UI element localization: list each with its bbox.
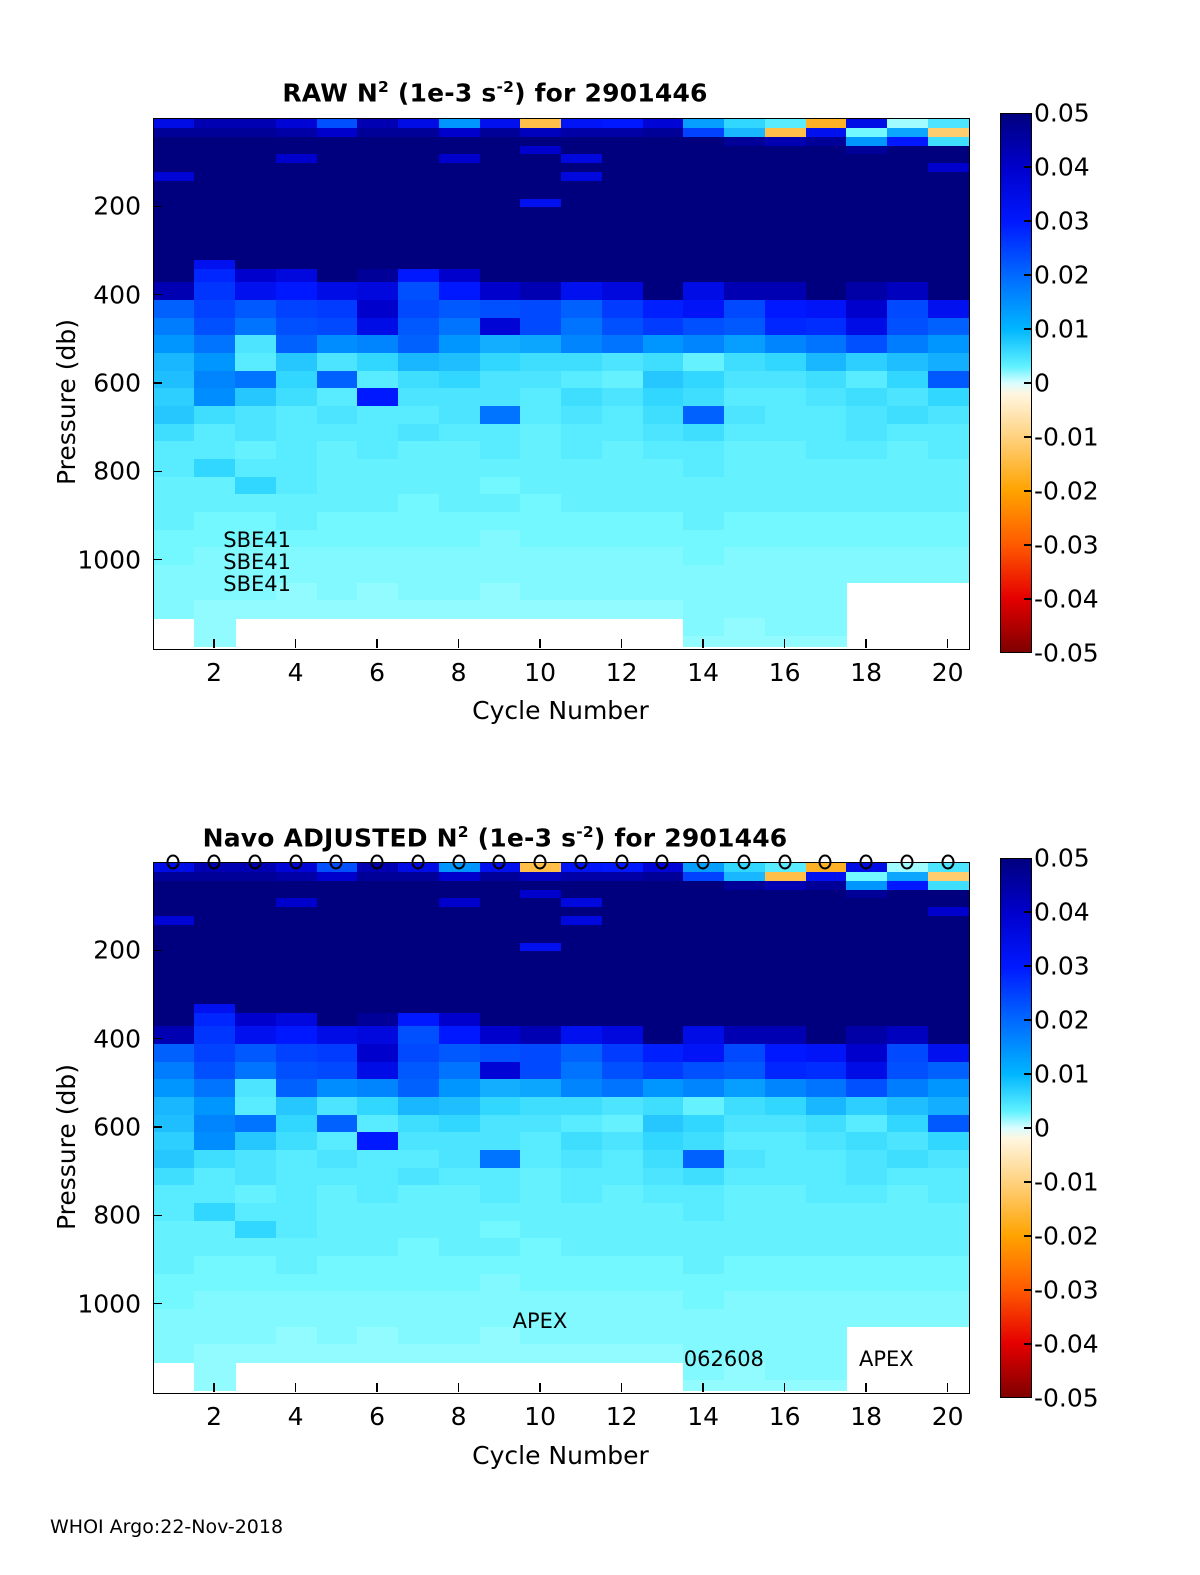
heatmap-cell [643,335,684,353]
heatmap-cell [276,600,317,618]
y-tick-mark [153,1126,162,1128]
colorbar-tick-label: -0.02 [1034,477,1099,506]
heatmap-cell [276,1221,317,1239]
heatmap-cell [235,1274,276,1292]
colorbar-tick-mark [1024,490,1032,492]
cycle-marker-icon [411,855,424,870]
heatmap-cell [806,300,847,318]
heatmap-cell [194,1150,235,1168]
heatmap-cell [765,1097,806,1115]
heatmap-cell [398,353,439,371]
heatmap-cell [602,1079,643,1097]
heatmap-cell [235,335,276,353]
heatmap-cell [561,1238,602,1256]
title-superscript: 2 [378,78,389,96]
heatmap-cell [317,1344,358,1362]
heatmap-cell [887,512,928,530]
heatmap-cell [398,424,439,442]
y-tick-mark [153,559,162,561]
heatmap-cell [928,269,969,283]
heatmap-cell [235,477,276,495]
heatmap-cell [643,406,684,424]
heatmap-cell [439,1256,480,1274]
footer-credit: WHOI Argo:22-Nov-2018 [50,1516,283,1538]
heatmap-cell [480,353,521,371]
heatmap-cell [602,565,643,583]
heatmap-cell [398,1168,439,1186]
heatmap-cell [765,1185,806,1203]
heatmap-cell [683,530,724,548]
heatmap-cell [806,547,847,565]
heatmap-cell [683,300,724,318]
heatmap-cell [561,406,602,424]
heatmap-cell [357,300,398,318]
heatmap-cell [806,441,847,459]
heatmap-cell [602,424,643,442]
x-tick-label: 16 [769,1402,801,1431]
colorbar-tick-mark [1024,1181,1032,1183]
heatmap-cell [480,1044,521,1062]
heatmap-cell [683,1203,724,1221]
heatmap-cell [398,318,439,336]
heatmap-cell [398,1256,439,1274]
heatmap-cell [480,1079,521,1097]
heatmap-cell [683,1238,724,1256]
heatmap-cell [887,1013,928,1027]
heatmap-cell [357,353,398,371]
heatmap-cell [724,512,765,530]
heatmap-cell [317,1026,358,1044]
heatmap-cell [357,1150,398,1168]
heatmap-cell [235,600,276,618]
heatmap-cell [643,371,684,389]
heatmap-cell [602,1185,643,1203]
heatmap-cell [602,441,643,459]
title-text: ) for 2901446 [514,78,708,107]
heatmap-cell [439,477,480,495]
heatmap-cell [480,1150,521,1168]
heatmap-cell [561,1256,602,1274]
heatmap-cell [683,565,724,583]
heatmap-cell [276,424,317,442]
heatmap-cell [276,1291,317,1309]
heatmap-cell [724,600,765,618]
heatmap-cell [317,530,358,548]
heatmap-cell [683,371,724,389]
heatmap-cell [317,1097,358,1115]
heatmap-cell [439,1309,480,1327]
colorbar-tick-mark [1024,166,1032,168]
heatmap-cell [439,1044,480,1062]
y-tick-label: 400 [13,1024,141,1053]
heatmap-cell [683,1274,724,1292]
heatmap-cell [520,1221,561,1239]
heatmap-cell [602,477,643,495]
heatmap-cell [194,1097,235,1115]
heatmap-cell [154,1327,195,1345]
heatmap-cell [928,353,969,371]
heatmap-cell [357,1168,398,1186]
heatmap-cell [724,547,765,565]
heatmap-cell [480,441,521,459]
y-tick-label: 1000 [13,1289,141,1318]
heatmap-cell [357,1256,398,1274]
colorbar-tick-label: -0.04 [1034,585,1099,614]
heatmap-cell [846,1115,887,1133]
heatmap-cell [480,1168,521,1186]
heatmap-cell [806,1132,847,1150]
heatmap-cell [765,1380,806,1392]
heatmap-cell [765,1168,806,1186]
heatmap-cell [398,1344,439,1362]
heatmap-cell [480,530,521,548]
colorbar-tick-mark [1024,220,1032,222]
heatmap-cell [154,424,195,442]
heatmap-cell [194,618,235,636]
heatmap-cell [643,565,684,583]
heatmap-cell [561,1150,602,1168]
heatmap-cell [683,1044,724,1062]
heatmap-cell [480,282,521,300]
heatmap-cell [317,1291,358,1309]
heatmap-cell [806,1168,847,1186]
heatmap-cell [765,1362,806,1380]
heatmap-axes-adjusted[interactable]: APEX062608APEX [153,862,970,1394]
heatmap-cell [928,530,969,548]
heatmap-cell [806,583,847,601]
heatmap-cell [480,583,521,601]
colorbar-tick-label: 0.05 [1034,99,1090,128]
heatmap-cell [317,565,358,583]
heatmap-cell [194,371,235,389]
heatmap-cell [846,1238,887,1256]
heatmap-cell [846,1309,887,1327]
heatmap-cell [480,424,521,442]
cycle-marker-icon [248,855,261,870]
x-tick-mark [458,639,460,648]
heatmap-cell [317,1309,358,1327]
heatmap-cell [439,300,480,318]
heatmap-cell [643,477,684,495]
heatmap-cell [154,512,195,530]
heatmap-cell [357,1344,398,1362]
heatmap-cell [806,1380,847,1392]
heatmap-cell [846,335,887,353]
heatmap-cell [398,1079,439,1097]
heatmap-cell [480,1344,521,1362]
heatmap-cell [317,300,358,318]
heatmap-cell [398,1150,439,1168]
heatmap-cell [520,1168,561,1186]
colorbar-tick-mark [1024,328,1032,330]
heatmap-cell [765,300,806,318]
heatmap-cell [724,335,765,353]
heatmap-cell [643,1327,684,1345]
heatmap-cell [724,269,765,283]
heatmap-cell [520,477,561,495]
heatmap-cell [724,1013,765,1027]
heatmap-cell [154,1185,195,1203]
heatmap-cell [235,1238,276,1256]
heatmap-cell [806,459,847,477]
heatmap-cell [561,1044,602,1062]
heatmap-cell [398,459,439,477]
heatmap-cell [439,1150,480,1168]
heatmap-cell [683,388,724,406]
heatmap-cell [398,1044,439,1062]
y-axis-label-adjusted: Pressure (db) [52,1064,81,1230]
heatmap-cell [154,282,195,300]
heatmap-cell [439,1238,480,1256]
heatmap-cell [480,269,521,283]
heatmap-cell [765,1274,806,1292]
heatmap-cell [928,335,969,353]
heatmap-cell [846,1132,887,1150]
heatmap-cell [357,1327,398,1345]
heatmap-cell [154,269,195,283]
y-tick-label: 200 [13,936,141,965]
heatmap-cell [724,1274,765,1292]
heatmap-cell [154,371,195,389]
heatmap-cell [887,1203,928,1221]
heatmap-cell [357,530,398,548]
heatmap-cell [887,282,928,300]
heatmap-cell [317,282,358,300]
heatmap-cell [683,1380,724,1392]
colorbar-tick-label: 0.03 [1034,207,1090,236]
heatmap-cell [398,1327,439,1345]
heatmap-cell [235,1185,276,1203]
heatmap-cell [398,1185,439,1203]
heatmap-cell [806,388,847,406]
heatmap-cell [928,1026,969,1044]
heatmap-cell [806,335,847,353]
heatmap-cell [765,1026,806,1044]
heatmap-cell [235,388,276,406]
heatmap-cell [194,1256,235,1274]
heatmap-cell [928,300,969,318]
heatmap-cell [439,353,480,371]
heatmap-cell [887,353,928,371]
heatmap-cell [357,1221,398,1239]
x-axis-label-raw: Cycle Number [153,696,968,725]
heatmap-cell [643,1062,684,1080]
heatmap-cell [683,1097,724,1115]
heatmap-cell [357,459,398,477]
heatmap-cell [683,1168,724,1186]
heatmap-cell [846,1150,887,1168]
heatmap-cell [317,441,358,459]
heatmap-cell [357,371,398,389]
heatmap-cell [765,371,806,389]
heatmap-cell [520,600,561,618]
x-tick-mark [702,639,704,648]
heatmap-cell [439,1079,480,1097]
heatmap-cell [480,1115,521,1133]
heatmap-cell [561,1274,602,1292]
x-tick-mark [213,639,215,648]
y-tick-mark [153,206,162,208]
heatmap-cell [561,512,602,530]
heatmap-cell [724,1291,765,1309]
heatmap-cell [194,1079,235,1097]
heatmap-cell [806,1309,847,1327]
heatmap-cell [480,318,521,336]
heatmap-cell [846,1013,887,1027]
heatmap-cell [928,459,969,477]
heatmap-cell [683,477,724,495]
colorbar-tick-mark [1024,598,1032,600]
heatmap-cell [643,1013,684,1027]
heatmap-cell [235,371,276,389]
y-tick-label: 400 [13,280,141,309]
plot-annotation: APEX [859,1347,914,1371]
heatmap-cell [683,1291,724,1309]
heatmap-cell [357,1274,398,1292]
heatmap-cell [887,1097,928,1115]
heatmap-cell [439,1203,480,1221]
heatmap-cell [439,583,480,601]
heatmap-cell [561,1221,602,1239]
heatmap-cell [806,269,847,283]
y-tick-mark [153,1215,162,1217]
heatmap-cell [561,494,602,512]
heatmap-cell [846,406,887,424]
heatmap-cell [276,477,317,495]
heatmap-cell [520,406,561,424]
cycle-marker-icon [167,855,180,870]
heatmap-cell [643,269,684,283]
heatmap-cell [235,1062,276,1080]
heatmap-cell [317,1274,358,1292]
heatmap-cell [520,371,561,389]
heatmap-cell [806,318,847,336]
colorbar-tick-label: -0.03 [1034,531,1099,560]
heatmap-cell [765,424,806,442]
heatmap-cell [765,512,806,530]
colorbar-tick-mark [1024,911,1032,913]
plot-annotation: SBE41 [223,528,291,552]
heatmap-cell [520,530,561,548]
heatmap-cell [235,1150,276,1168]
heatmap-cell [276,318,317,336]
heatmap-cell [520,494,561,512]
heatmap-cell [357,1185,398,1203]
heatmap-cell [480,335,521,353]
heatmap-cell [398,530,439,548]
heatmap-cell [643,459,684,477]
heatmap-cell [683,335,724,353]
heatmap-cell [602,530,643,548]
cycle-marker-icon [208,855,221,870]
heatmap-cell [561,353,602,371]
heatmap-cell [194,441,235,459]
heatmap-cell [439,1344,480,1362]
heatmap-cell [235,1026,276,1044]
heatmap-cell [154,1309,195,1327]
heatmap-cell [887,1274,928,1292]
heatmap-cell [683,1079,724,1097]
colorbar-tick-label: -0.01 [1034,1168,1099,1197]
cycle-marker-icon [656,855,669,870]
heatmap-cell [520,583,561,601]
heatmap-cell [724,353,765,371]
heatmap-cell [887,1238,928,1256]
heatmap-cell [317,547,358,565]
heatmap-cell [928,1044,969,1062]
heatmap-cell [235,406,276,424]
heatmap-cell [480,1013,521,1027]
heatmap-cell [398,600,439,618]
heatmap-cell [439,600,480,618]
heatmap-cell [194,1013,235,1027]
heatmap-cell [439,269,480,283]
heatmap-cell [439,388,480,406]
heatmap-cell [765,282,806,300]
heatmap-cell [276,1097,317,1115]
heatmap-cell [480,1291,521,1309]
colorbar-tick-label: 0.04 [1034,153,1090,182]
heatmap-cell [154,494,195,512]
colorbar-tick-label: -0.04 [1034,1330,1099,1359]
heatmap-cell [439,335,480,353]
heatmap-cell [806,1079,847,1097]
heatmap-cell [317,269,358,283]
heatmap-cell [480,1203,521,1221]
heatmap-cell [683,441,724,459]
heatmap-cell [806,371,847,389]
x-tick-mark [458,1383,460,1392]
colorbar-tick-label: -0.01 [1034,423,1099,452]
heatmap-cell [846,282,887,300]
heatmap-cell [398,1132,439,1150]
heatmap-cell [194,1185,235,1203]
heatmap-cell [643,1185,684,1203]
heatmap-cell [561,424,602,442]
heatmap-cell [357,441,398,459]
heatmap-cell [643,1132,684,1150]
y-tick-label: 1000 [13,545,141,574]
x-tick-label: 2 [206,1402,222,1431]
heatmap-cell [276,1327,317,1345]
heatmap-cell [357,318,398,336]
heatmap-cell [928,477,969,495]
heatmap-cell [928,1013,969,1027]
colorbar-tick-label: 0.02 [1034,261,1090,290]
heatmap-cell [928,371,969,389]
x-tick-mark [621,1383,623,1392]
heatmap-cell [480,459,521,477]
heatmap-cell [928,1256,969,1274]
heatmap-cell [602,1203,643,1221]
heatmap-cell [235,1203,276,1221]
heatmap-cell [357,1115,398,1133]
x-tick-mark [295,1383,297,1392]
heatmap-cell [643,600,684,618]
x-tick-mark [784,639,786,648]
x-tick-mark [376,639,378,648]
heatmap-cell [398,371,439,389]
heatmap-cell [480,512,521,530]
heatmap-cell [724,300,765,318]
heatmap-cell [602,1291,643,1309]
x-tick-label: 18 [850,658,882,687]
heatmap-axes-raw[interactable]: SBE41SBE41SBE41 [153,118,970,650]
heatmap-cell [276,300,317,318]
heatmap-cell [357,335,398,353]
heatmap-cell [317,1013,358,1027]
heatmap-cell [846,1274,887,1292]
